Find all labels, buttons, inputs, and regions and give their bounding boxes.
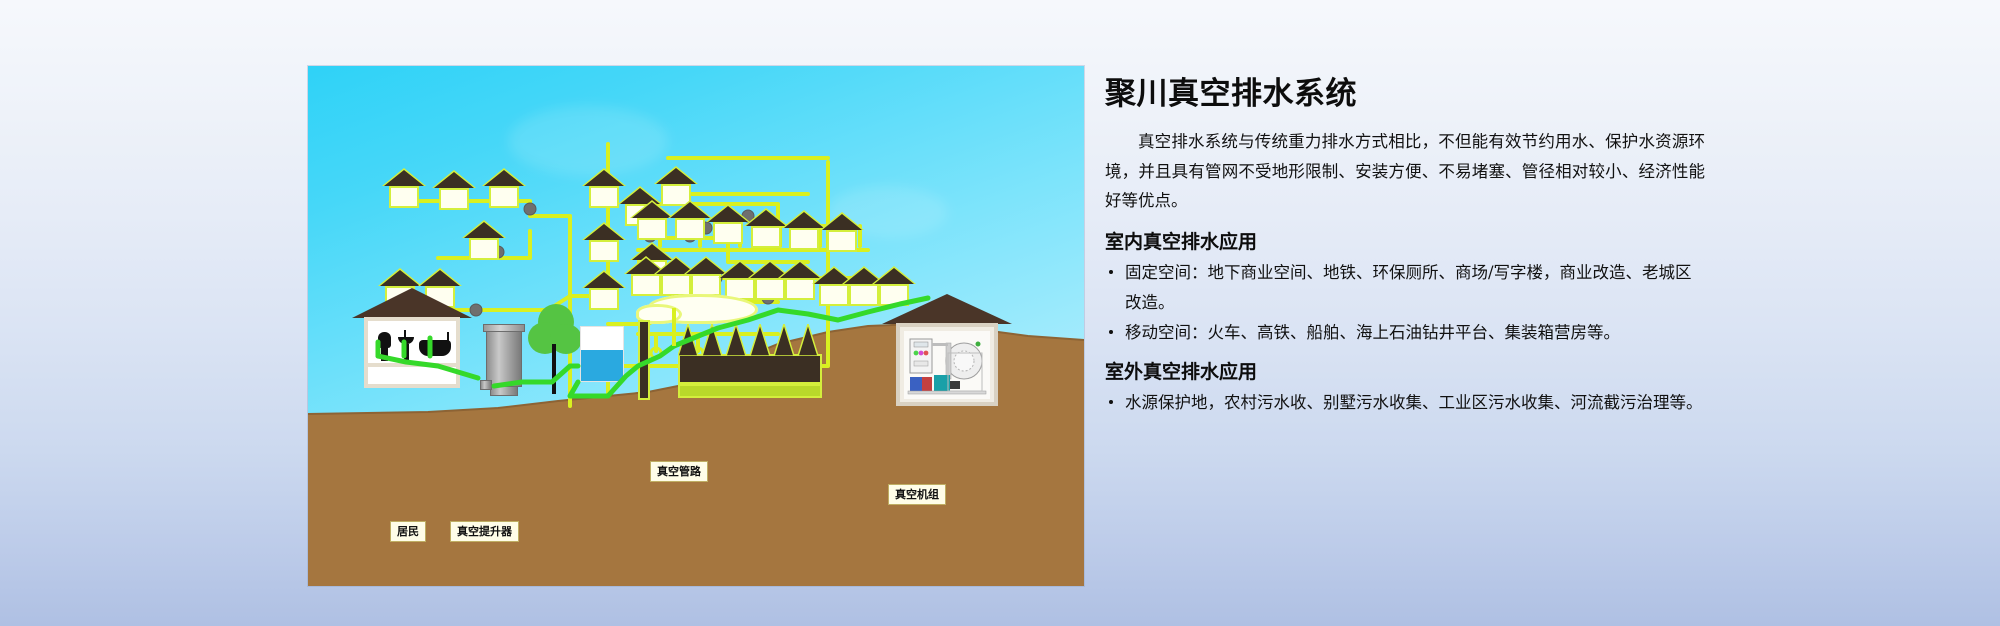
list-item: 水源保护地，农村污水收、别墅污水收集、工业区污水收集、河流截污治理等。 <box>1105 388 1705 417</box>
vacuum-lift-unit <box>482 324 526 396</box>
content-column: 聚川真空排水系统 真空排水系统与传统重力排水方式相比，不但能有效节约用水、保护水… <box>1105 76 1705 422</box>
house-icon <box>584 272 624 316</box>
residence-cutaway <box>364 288 460 388</box>
station-roof <box>882 294 1012 324</box>
lift-inlet <box>480 380 492 390</box>
vacuum-equipment-icon <box>904 331 990 399</box>
list-item: 移动空间：火车、高铁、船舶、海上石油钻井平台、集装箱营房等。 <box>1105 318 1705 347</box>
factory-sawtooth-roof <box>678 324 822 356</box>
house-icon <box>584 224 624 268</box>
label-residence: 居民 <box>390 521 426 542</box>
toilet-icon <box>378 332 391 348</box>
tree-icon <box>528 304 582 396</box>
section-heading-indoor: 室内真空排水应用 <box>1105 227 1705 254</box>
label-lift-unit: 真空提升器 <box>450 521 519 542</box>
lift-foot <box>490 386 518 396</box>
bullet-list-outdoor: 水源保护地，农村污水收、别墅污水收集、工业区污水收集、河流截污治理等。 <box>1105 388 1705 417</box>
house-icon <box>464 222 504 266</box>
lift-body <box>486 331 522 387</box>
tank-water <box>581 350 623 381</box>
factory-icon <box>628 298 858 408</box>
smokestack <box>638 320 650 400</box>
bathtub-icon <box>419 340 451 356</box>
house-icon <box>384 170 424 214</box>
collection-tank <box>580 326 624 382</box>
house-icon <box>670 202 710 246</box>
house-icon <box>822 214 862 258</box>
factory-building <box>678 354 822 384</box>
residence-roof <box>352 288 472 318</box>
house-icon <box>632 202 672 246</box>
sink-icon <box>404 344 409 361</box>
house-icon <box>784 212 824 256</box>
house-icon <box>434 172 474 216</box>
label-station: 真空机组 <box>888 484 946 505</box>
house-icon <box>708 206 748 250</box>
bullet-list-indoor: 固定空间：地下商业空间、地铁、环保厕所、商场/写字楼，商业改造、老城区改造。 移… <box>1105 258 1705 347</box>
house-icon <box>484 170 524 214</box>
list-item: 固定空间：地下商业空间、地铁、环保厕所、商场/写字楼，商业改造、老城区改造。 <box>1105 258 1705 317</box>
poster-page: 居民 真空提升器 真空管路 真空机组 聚川真空排水系统 真空排水系统与传统重力排… <box>0 0 2000 626</box>
toilet-icon <box>381 347 388 361</box>
tree-trunk <box>552 344 556 394</box>
factory-base <box>678 384 822 398</box>
house-icon <box>746 210 786 254</box>
residence-floor <box>368 363 456 367</box>
system-illustration: 居民 真空提升器 真空管路 真空机组 <box>308 66 1084 586</box>
sink-faucet-icon <box>404 330 406 338</box>
station-equipment-room <box>904 331 990 399</box>
bathtub-faucet-icon <box>447 332 449 341</box>
label-pipeline: 真空管路 <box>650 461 708 482</box>
page-title: 聚川真空排水系统 <box>1105 76 1705 113</box>
section-heading-outdoor: 室外真空排水应用 <box>1105 357 1705 384</box>
vacuum-station-building <box>896 294 998 406</box>
intro-paragraph: 真空排水系统与传统重力排水方式相比，不但能有效节约用水、保护水资源环境，并且具有… <box>1105 127 1705 215</box>
